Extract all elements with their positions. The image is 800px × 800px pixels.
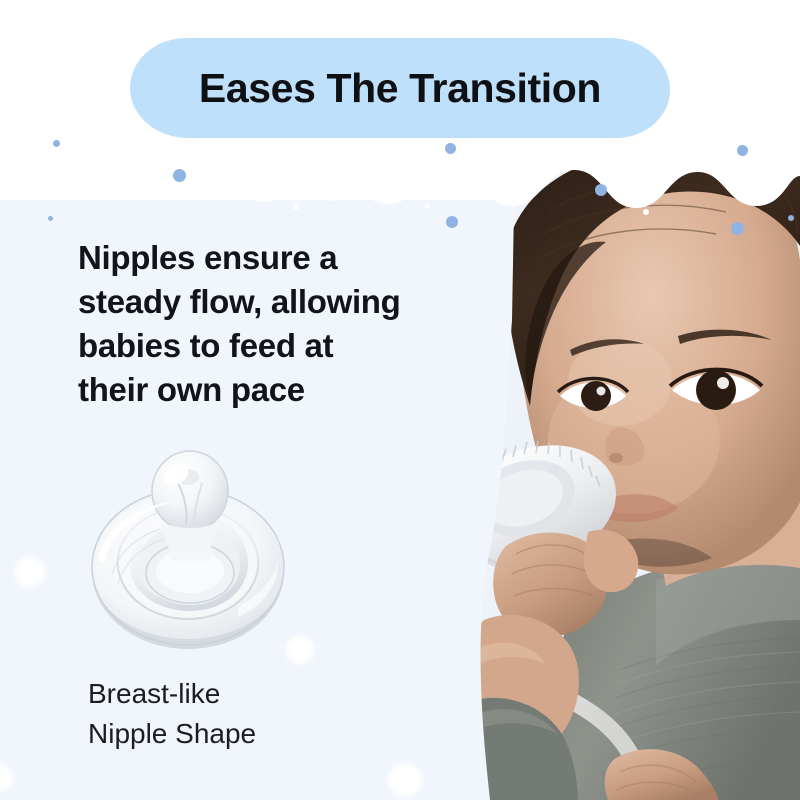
dot-blue-7-icon [446, 216, 458, 228]
dot-white-2-icon [643, 209, 649, 215]
dot-blue-8-icon [425, 204, 430, 209]
body-copy: Nipples ensure a steady flow, allowing b… [78, 236, 458, 412]
dot-white-1-icon [325, 190, 336, 201]
body-line-4: their own pace [78, 368, 458, 412]
body-line-3: babies to feed at [78, 324, 458, 368]
dot-blue-1-icon [53, 140, 60, 147]
dot-blue-11-icon [737, 145, 748, 156]
product-nipple-image [78, 443, 304, 658]
dot-white-3-icon [15, 557, 45, 587]
promo-card: Eases The Transition Nipples ensure a st… [0, 0, 800, 800]
product-caption: Breast-like Nipple Shape [88, 674, 388, 754]
body-line-1: Nipples ensure a [78, 236, 458, 280]
dot-blue-9-icon [595, 184, 607, 196]
hero-photo [420, 150, 800, 800]
dot-blue-3-icon [114, 191, 123, 200]
headline-text: Eases The Transition [199, 65, 601, 112]
caption-line-1: Breast-like [88, 674, 388, 714]
dot-white-5-icon [388, 763, 422, 797]
dot-blue-12-icon [788, 215, 794, 221]
scallop-divider [0, 150, 800, 230]
body-line-2: steady flow, allowing [78, 280, 458, 324]
dot-blue-10-icon [731, 222, 744, 235]
dot-blue-5-icon [293, 204, 299, 210]
dot-blue-4-icon [173, 169, 186, 182]
dot-blue-6-icon [445, 143, 456, 154]
dot-blue-2-icon [48, 216, 53, 221]
caption-line-2: Nipple Shape [88, 714, 388, 754]
headline-banner: Eases The Transition [130, 38, 670, 138]
dot-white-4-icon [286, 636, 314, 664]
